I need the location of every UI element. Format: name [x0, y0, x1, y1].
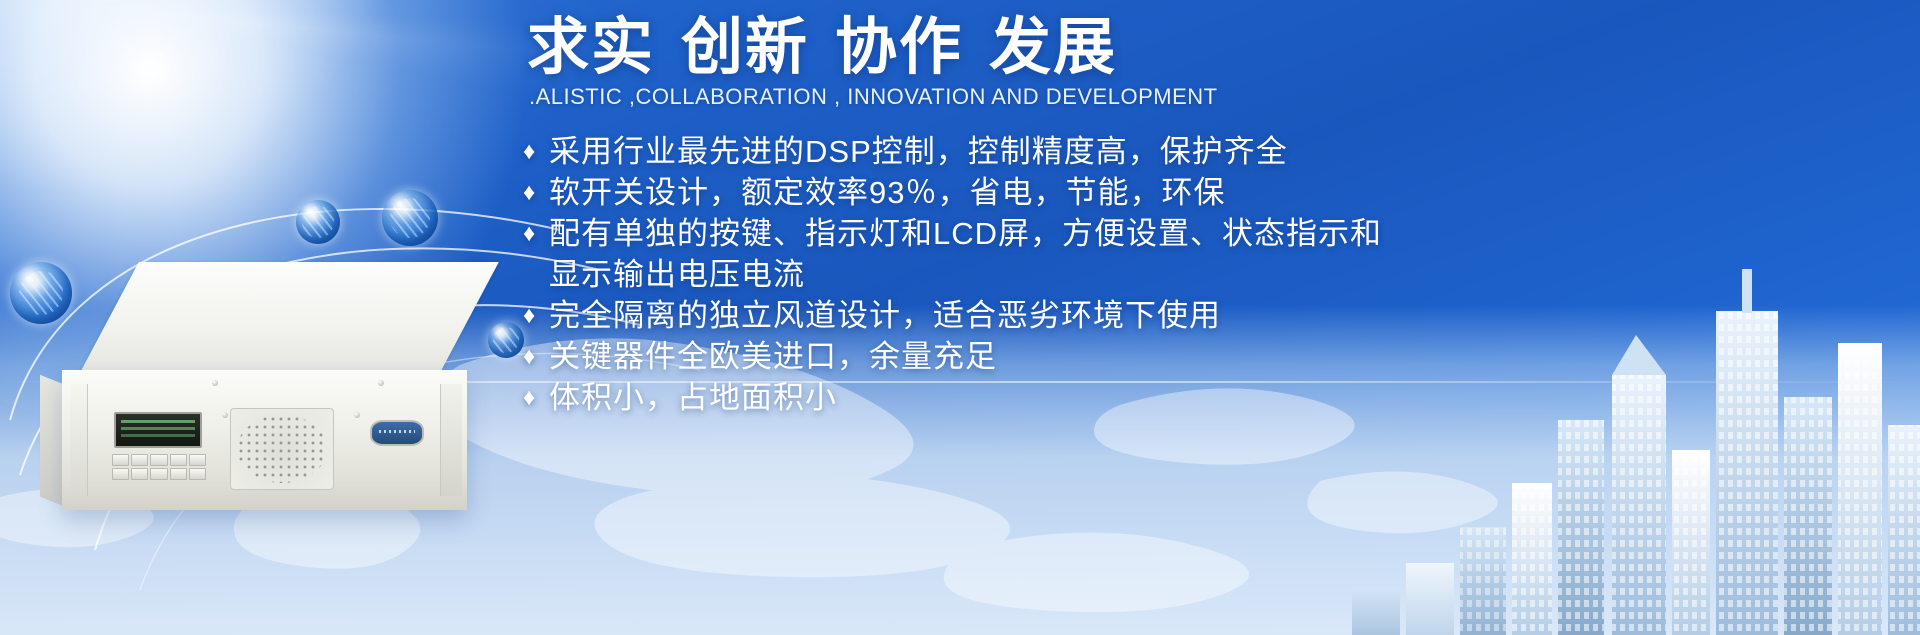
list-item-label: 显示输出电压电流 — [549, 254, 1895, 295]
list-item-label: 完全隔离的独立风道设计，适合恶劣环境下使用 — [549, 295, 1895, 336]
diamond-bullet-icon: ♦ — [523, 131, 549, 172]
list-item-label: 体积小，占地面积小 — [549, 377, 1895, 418]
diamond-bullet-icon: ♦ — [523, 295, 549, 336]
diamond-bullet-icon: ♦ — [523, 172, 549, 213]
list-item: ♦ 关键器件全欧美进口，余量充足 — [523, 336, 1895, 377]
page-title: 求实创新协作发展 — [515, 16, 1895, 79]
headline-word-1: 求实 — [527, 13, 655, 82]
list-item-label: 采用行业最先进的DSP控制，控制精度高，保护齐全 — [549, 131, 1895, 172]
subtitle: .ALISTIC ,COLLABORATION , INNOVATION AND… — [515, 85, 1895, 109]
list-item-continuation: ♦ 显示输出电压电流 — [523, 254, 1895, 295]
diamond-bullet-icon: ♦ — [523, 213, 549, 254]
list-item: ♦ 配有单独的按键、指示灯和LCD屏，方便设置、状态指示和 — [523, 213, 1895, 254]
headline-word-2: 创新 — [681, 13, 809, 82]
diamond-bullet-icon: ♦ — [523, 336, 549, 377]
list-item: ♦ 完全隔离的独立风道设计，适合恶劣环境下使用 — [523, 295, 1895, 336]
headline-word-4: 发展 — [989, 13, 1117, 82]
list-item: ♦ 体积小，占地面积小 — [523, 377, 1895, 418]
list-item: ♦ 采用行业最先进的DSP控制，控制精度高，保护齐全 — [523, 131, 1895, 172]
banner-copy: 求实创新协作发展 .ALISTIC ,COLLABORATION , INNOV… — [515, 16, 1895, 418]
globe-bead-icon — [382, 190, 438, 246]
rack-mount-power-supply-image — [62, 262, 482, 527]
list-item: ♦ 软开关设计，额定效率93％，省电，节能，环保 — [523, 172, 1895, 213]
feature-list: ♦ 采用行业最先进的DSP控制，控制精度高，保护齐全 ♦ 软开关设计，额定效率9… — [515, 131, 1895, 418]
globe-bead-icon — [296, 200, 340, 244]
diamond-bullet-icon: ♦ — [523, 377, 549, 418]
headline-word-3: 协作 — [835, 13, 963, 82]
list-item-label: 配有单独的按键、指示灯和LCD屏，方便设置、状态指示和 — [549, 213, 1895, 254]
list-item-label: 关键器件全欧美进口，余量充足 — [549, 336, 1895, 377]
screw-heads-icon — [62, 262, 482, 527]
list-item-label: 软开关设计，额定效率93％，省电，节能，环保 — [549, 172, 1895, 213]
marketing-banner: 求实创新协作发展 .ALISTIC ,COLLABORATION , INNOV… — [0, 0, 1920, 635]
